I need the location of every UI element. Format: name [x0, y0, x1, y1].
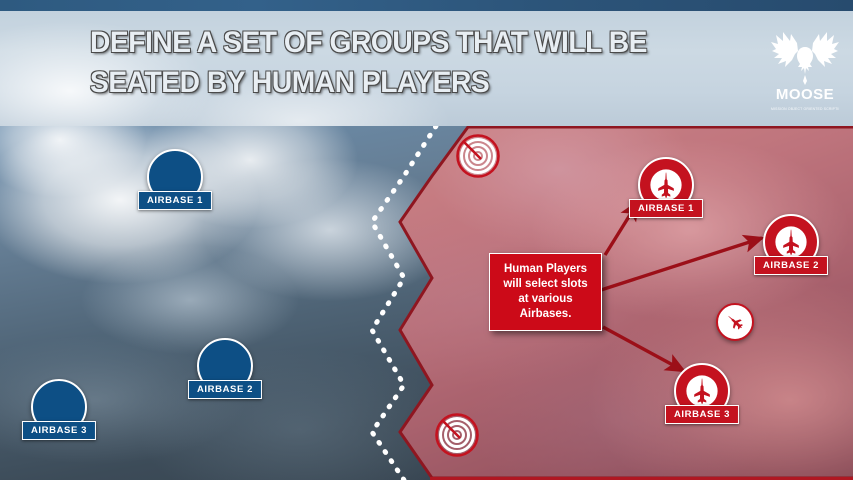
slide-canvas: AIRBASE 1 AIRBASE 2 AIRBASE 3 AIRBASE 1 … — [0, 0, 853, 480]
header-band: DEFINE A SET OF GROUPS THAT WILL BE SEAT… — [0, 11, 853, 126]
blue-airbase-marker-2[interactable]: AIRBASE 2 — [197, 338, 253, 394]
blue-airbase-marker-3[interactable]: AIRBASE 3 — [31, 379, 87, 435]
red-airbase-marker-2[interactable]: AIRBASE 2 — [763, 214, 819, 270]
human-players-callout: Human Players will select slots at vario… — [489, 253, 602, 331]
callout-line-2: will select slots — [503, 277, 587, 292]
radar-target-icon-2[interactable] — [435, 413, 479, 457]
moose-logo: MOOSE MISSION OBJECT ORIENTED SCRIPTING … — [771, 27, 839, 115]
moose-antlers-skull-icon — [771, 27, 839, 89]
red-airbase-label-3: AIRBASE 3 — [665, 405, 739, 424]
page-title: DEFINE A SET OF GROUPS THAT WILL BE SEAT… — [90, 23, 710, 103]
blue-airbase-label-3: AIRBASE 3 — [22, 421, 96, 440]
radar-target-icon-1[interactable] — [456, 134, 500, 178]
logo-subtitle: MISSION OBJECT ORIENTED SCRIPTING ENVIRO… — [771, 107, 839, 111]
red-airbase-label-1: AIRBASE 1 — [629, 199, 703, 218]
callout-line-1: Human Players — [504, 262, 587, 277]
top-blue-strip — [0, 0, 853, 11]
blue-airbase-label-2: AIRBASE 2 — [188, 380, 262, 399]
red-airbase-marker-3[interactable]: AIRBASE 3 — [674, 363, 730, 419]
blue-airbase-marker-1[interactable]: AIRBASE 1 — [147, 149, 203, 205]
callout-line-3: at various — [518, 292, 572, 307]
player-jet-badge[interactable] — [716, 303, 754, 341]
radar-target-icon — [456, 134, 500, 178]
blue-airbase-label-1: AIRBASE 1 — [138, 191, 212, 210]
red-airbase-label-2: AIRBASE 2 — [754, 256, 828, 275]
callout-line-4: Airbases. — [520, 307, 572, 322]
red-airbase-marker-1[interactable]: AIRBASE 1 — [638, 157, 694, 213]
radar-target-icon — [435, 413, 479, 457]
logo-wordmark: MOOSE — [771, 86, 839, 103]
jet-icon — [722, 309, 748, 335]
